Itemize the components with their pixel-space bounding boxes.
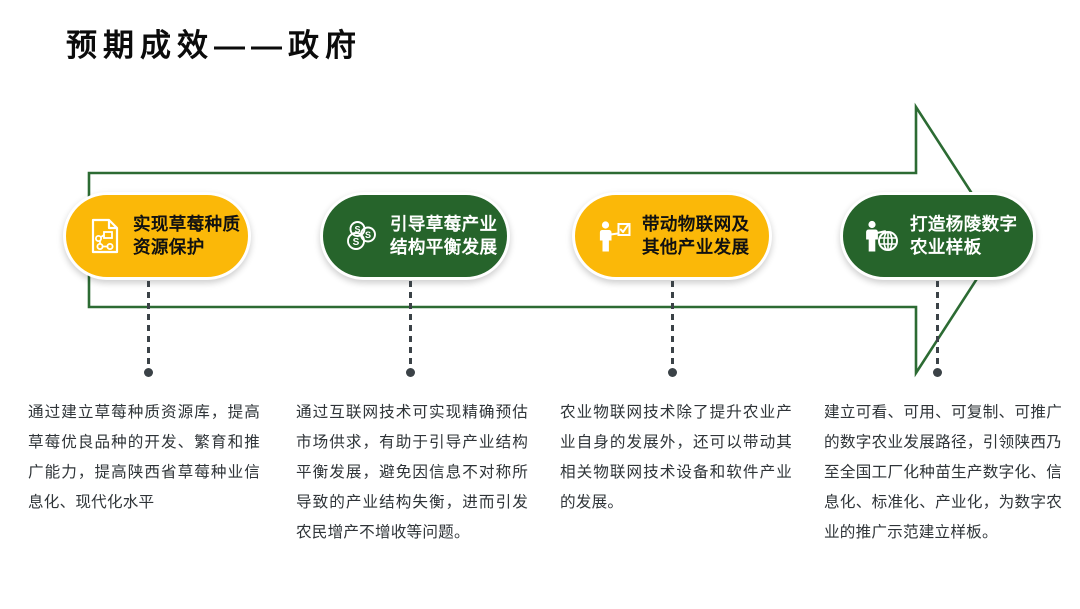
connector-dot-4 bbox=[933, 368, 942, 377]
money-coins-icon: S S S bbox=[343, 214, 381, 258]
step-pill-4[interactable]: 打造杨陵数字 农业样板 bbox=[840, 192, 1036, 280]
connector-line-4 bbox=[936, 281, 939, 369]
connector-line-3 bbox=[671, 281, 674, 369]
connector-dot-2 bbox=[406, 368, 415, 377]
step-pill-2[interactable]: S S S 引导草莓产业 结构平衡发展 bbox=[320, 192, 510, 280]
step-pill-label: 带动物联网及 其他产业发展 bbox=[642, 213, 749, 259]
person-globe-icon bbox=[863, 214, 901, 258]
step-description-1: 通过建立草莓种质资源库，提高草莓优良品种的开发、繁育和推广能力，提高陕西省草莓种… bbox=[28, 398, 260, 518]
page-title: 预期成效——政府 bbox=[66, 20, 362, 65]
document-flowchart-icon bbox=[86, 214, 124, 258]
step-description-3: 农业物联网技术除了提升农业产业自身的发展外，还可以带动其相关物联网技术设备和软件… bbox=[560, 398, 792, 518]
step-description-2: 通过互联网技术可实现精确预估市场供求，有助于引导产业结构平衡发展，避免因信息不对… bbox=[296, 398, 528, 548]
connector-line-1 bbox=[147, 281, 150, 369]
connector-dot-3 bbox=[668, 368, 677, 377]
svg-text:S: S bbox=[365, 230, 371, 240]
step-pill-1[interactable]: 实现草莓种质 资源保护 bbox=[63, 192, 251, 280]
connector-line-2 bbox=[409, 281, 412, 369]
person-checklist-icon bbox=[595, 214, 633, 258]
step-pill-label: 引导草莓产业 结构平衡发展 bbox=[390, 213, 497, 259]
svg-text:S: S bbox=[353, 237, 360, 248]
step-pill-label: 打造杨陵数字 农业样板 bbox=[910, 213, 1017, 259]
step-description-4: 建立可看、可用、可复制、可推广的数字农业发展路径，引领陕西乃至全国工厂化种苗生产… bbox=[824, 398, 1062, 548]
step-pill-3[interactable]: 带动物联网及 其他产业发展 bbox=[572, 192, 772, 280]
step-pill-label: 实现草莓种质 资源保护 bbox=[133, 213, 240, 259]
connector-dot-1 bbox=[144, 368, 153, 377]
